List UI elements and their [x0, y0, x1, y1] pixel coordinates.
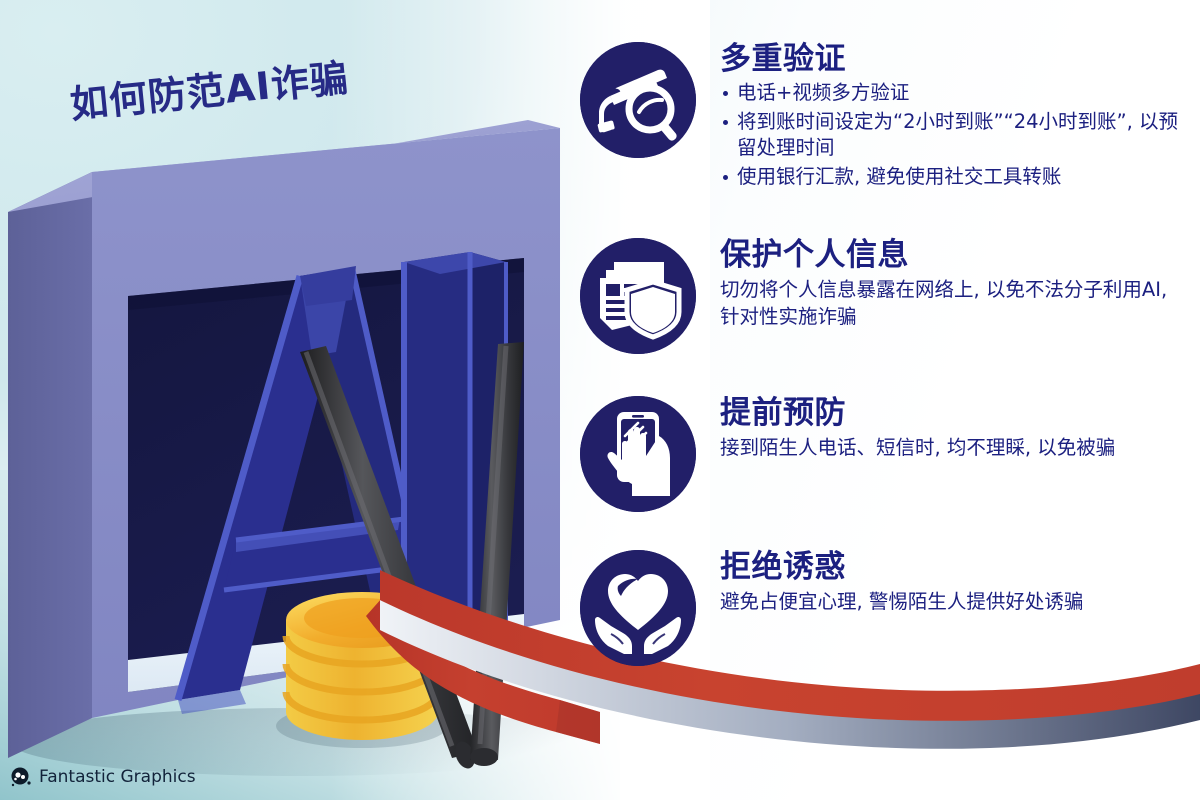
tip-3-heading: 提前预防 — [720, 396, 1190, 431]
documents-shield-icon — [580, 238, 696, 354]
watermark-label: Fantastic Graphics — [39, 767, 196, 787]
infographic-poster: 如何防范AI诈骗 — [0, 0, 1200, 800]
hand-smartphone-icon — [580, 396, 696, 512]
tip-1-heading: 多重验证 — [720, 42, 1190, 77]
tip-2-heading: 保护个人信息 — [720, 238, 1190, 273]
hands-heart-icon — [580, 550, 696, 666]
box-side-face — [8, 172, 92, 758]
hand-credit-card-magnifier-icon — [580, 42, 696, 158]
tip-1-text: 多重验证 电话+视频多方验证 将到账时间设定为“2小时到账”“24小时到账”, … — [720, 42, 1190, 193]
tip-1-bullet-1: 电话+视频多方验证 — [720, 80, 1190, 106]
tip-4-body: 避免占便宜心理, 警惕陌生人提供好处诱骗 — [720, 588, 1190, 616]
watermark: Fantastic Graphics — [10, 766, 196, 788]
tip-1-bullet-3: 使用银行汇款, 避免使用社交工具转账 — [720, 164, 1190, 190]
tip-2-body: 切勿将个人信息暴露在网络上, 以免不法分子利用AI, 针对性实施诈骗 — [720, 276, 1190, 331]
tip-2-text: 保护个人信息 切勿将个人信息暴露在网络上, 以免不法分子利用AI, 针对性实施诈… — [720, 238, 1190, 331]
tip-4-text: 拒绝诱惑 避免占便宜心理, 警惕陌生人提供好处诱骗 — [720, 550, 1190, 615]
tip-1-bullets: 电话+视频多方验证 将到账时间设定为“2小时到账”“24小时到账”, 以预留处理… — [720, 80, 1190, 191]
tip-1-bullet-2: 将到账时间设定为“2小时到账”“24小时到账”, 以预留处理时间 — [720, 109, 1190, 161]
paw-circle-icon — [10, 766, 32, 788]
tip-3-body: 接到陌生人电话、短信时, 均不理睬, 以免被骗 — [720, 434, 1190, 462]
tip-3-text: 提前预防 接到陌生人电话、短信时, 均不理睬, 以免被骗 — [720, 396, 1190, 461]
tip-4-heading: 拒绝诱惑 — [720, 550, 1190, 585]
tips-list: 多重验证 电话+视频多方验证 将到账时间设定为“2小时到账”“24小时到账”, … — [560, 0, 1200, 800]
